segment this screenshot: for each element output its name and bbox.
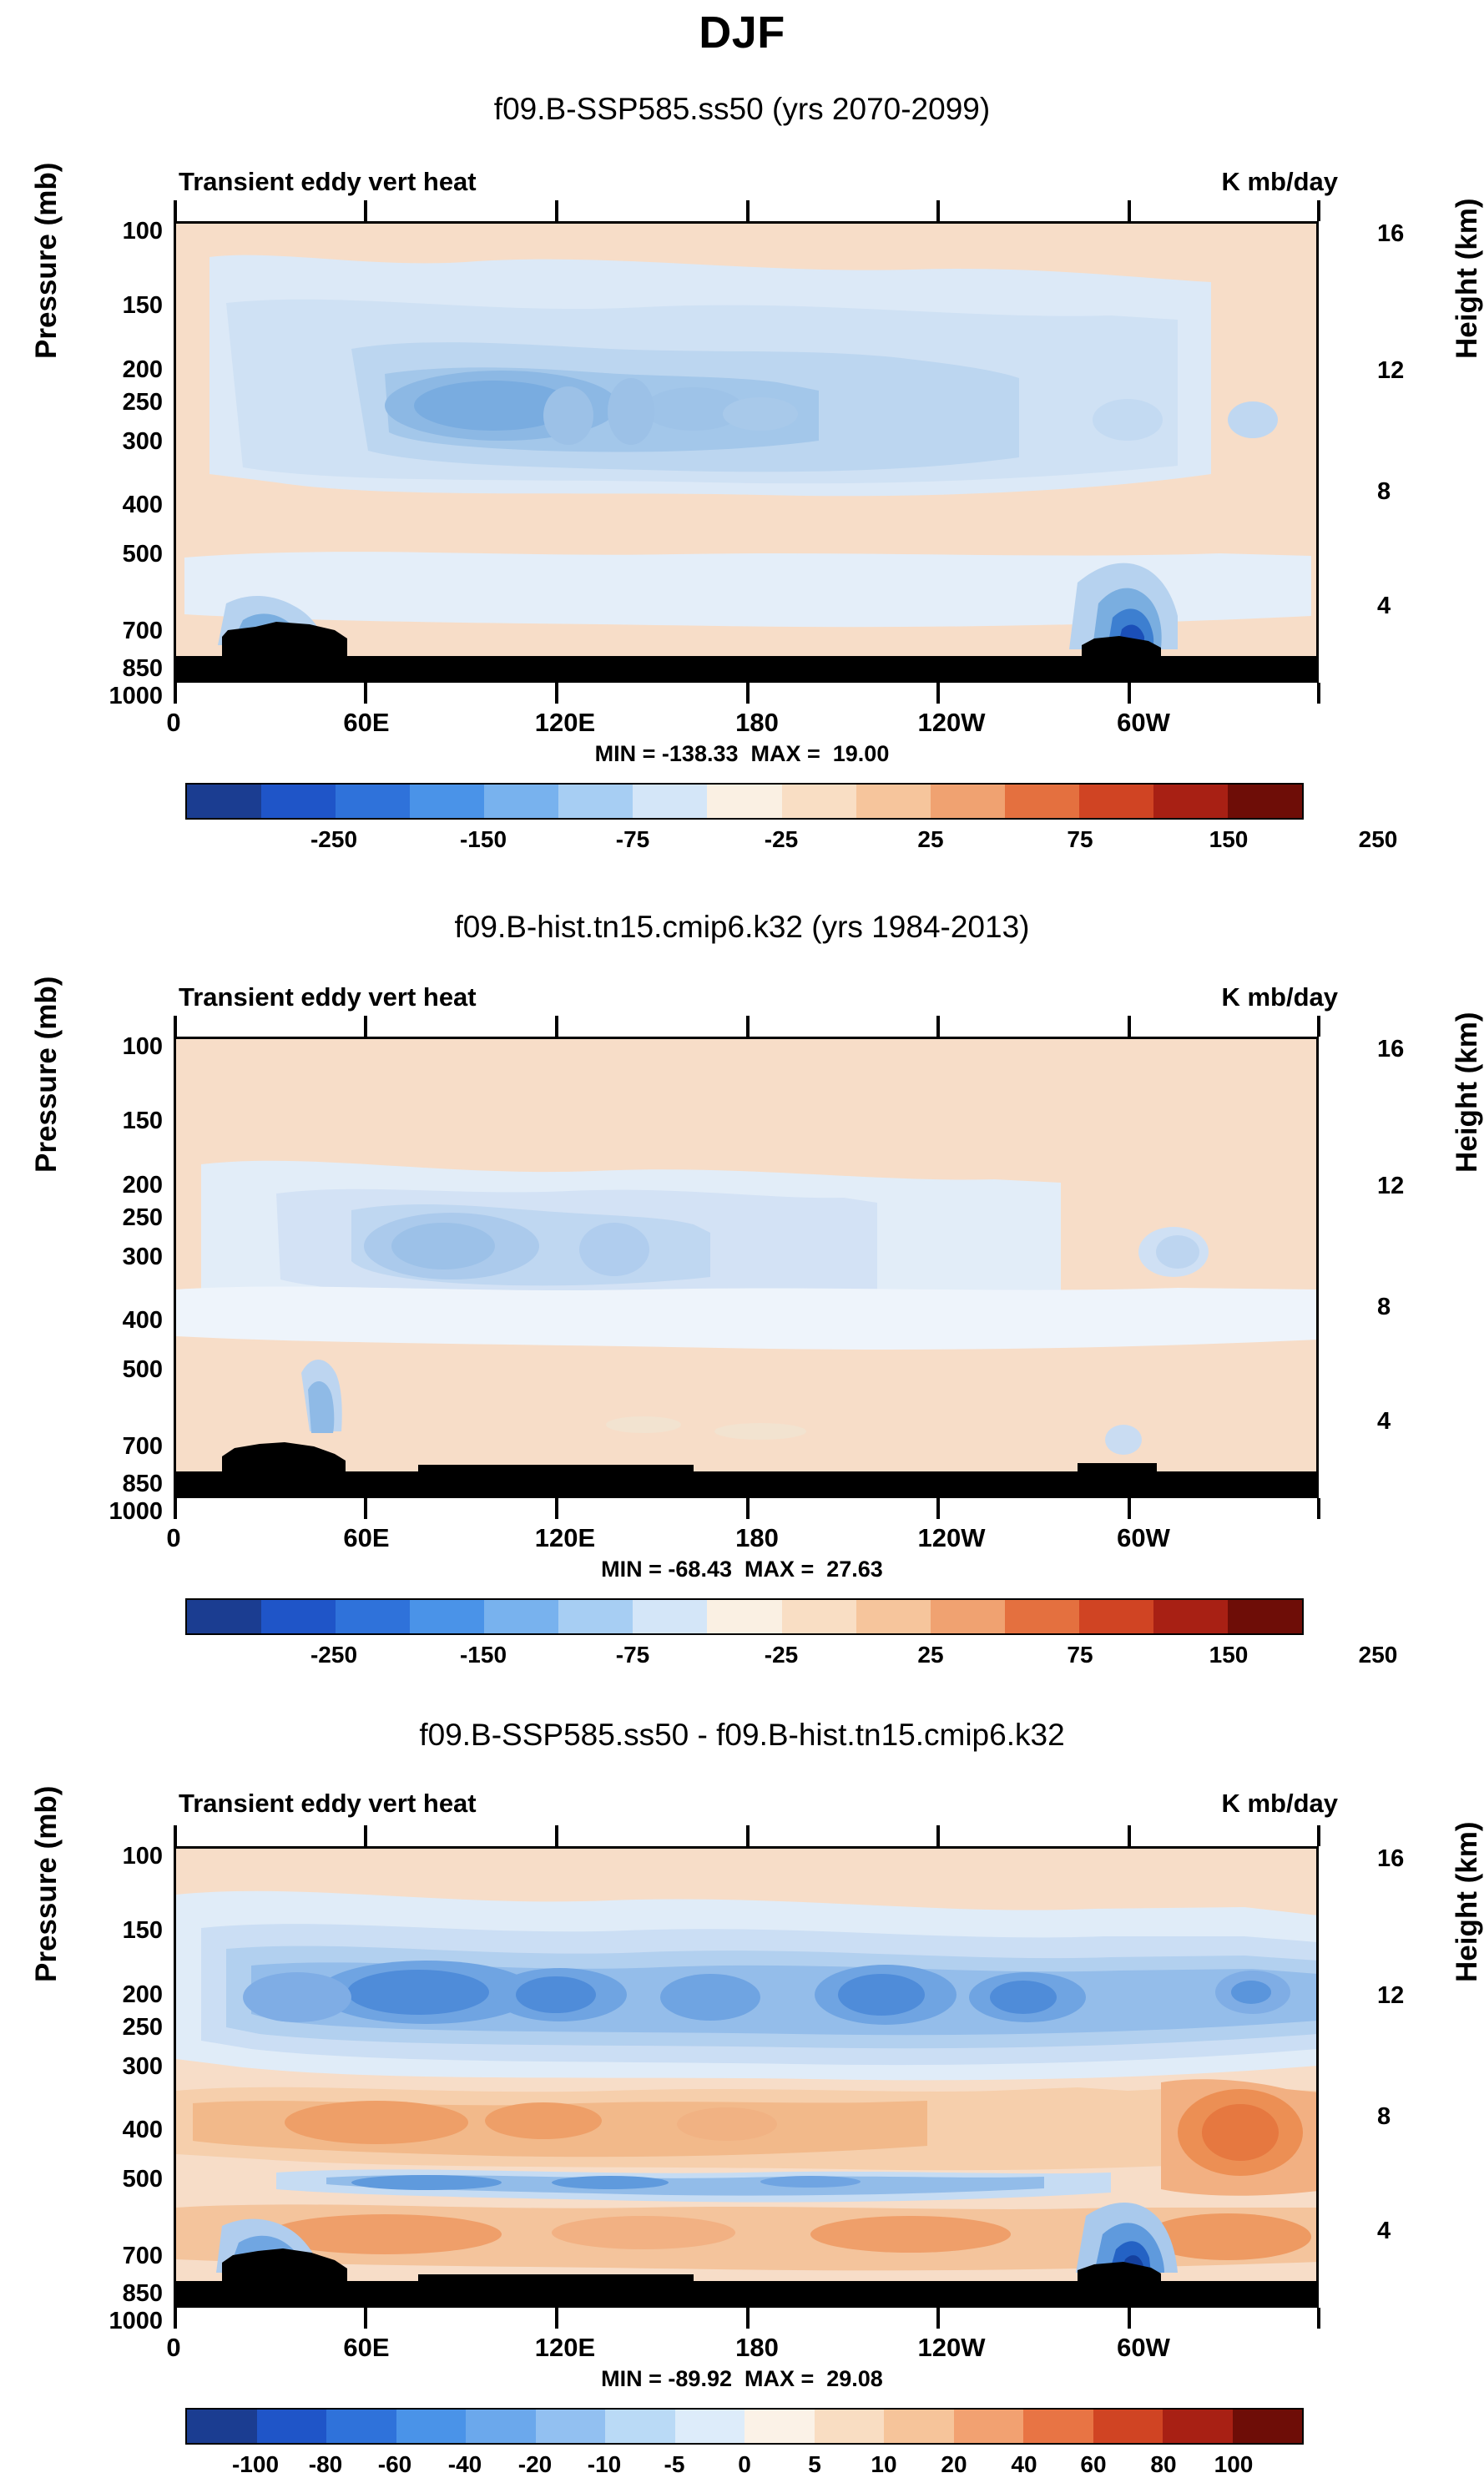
axis-tick bbox=[746, 683, 750, 704]
axis-tick bbox=[746, 200, 750, 221]
axis-tick bbox=[1128, 683, 1131, 704]
panel-2-xtick: 120E bbox=[507, 1523, 623, 1553]
panel-2-ytick: 250 bbox=[50, 1204, 163, 1232]
panel-1-minmax: MIN = -138.33 MAX = 19.00 bbox=[0, 741, 1484, 767]
panel-2-xtick: 0 bbox=[149, 1523, 199, 1553]
panel-1-ytick-right: 12 bbox=[1377, 357, 1404, 385]
axis-tick bbox=[936, 1498, 940, 1519]
panel-1-ytick: 100 bbox=[50, 218, 163, 245]
panel-2-left-label: Transient eddy vert heat bbox=[179, 982, 477, 1012]
panel-2-colorbar bbox=[185, 1598, 1304, 1635]
panel-2-xtick: 60E bbox=[316, 1523, 416, 1553]
panel-2-ytick: 400 bbox=[50, 1307, 163, 1335]
panel-2-field bbox=[176, 1039, 1318, 1497]
axis-tick bbox=[364, 1016, 367, 1037]
axis-tick bbox=[555, 1825, 558, 1846]
panel-3-ytick-right: 4 bbox=[1377, 2218, 1391, 2245]
panel-1-xtick: 120E bbox=[507, 708, 623, 738]
panel-3-ytick: 1000 bbox=[50, 2308, 163, 2335]
cbar-tick: 20 bbox=[941, 2451, 967, 2478]
axis-tick bbox=[174, 683, 177, 704]
panel-2-ytick-right: 8 bbox=[1377, 1294, 1391, 1321]
axis-tick bbox=[1317, 683, 1320, 704]
cbar-tick: 250 bbox=[1359, 1642, 1398, 1668]
panel-1-ytick: 150 bbox=[50, 292, 163, 320]
panel-2-right-label: K mb/day bbox=[1221, 982, 1338, 1012]
cbar-tick: 25 bbox=[917, 1642, 943, 1668]
panel-3-plot bbox=[174, 1846, 1319, 2308]
panel-1-ytick-right: 16 bbox=[1377, 220, 1404, 248]
axis-tick bbox=[746, 1016, 750, 1037]
panel-3-xtick: 120E bbox=[507, 2333, 623, 2363]
panel-3-ytick-right: 8 bbox=[1377, 2103, 1391, 2131]
axis-tick bbox=[174, 2308, 177, 2329]
axis-tick bbox=[1128, 1825, 1131, 1846]
panel-2-minmax: MIN = -68.43 MAX = 27.63 bbox=[0, 1557, 1484, 1582]
axis-tick bbox=[364, 2308, 367, 2329]
cbar-tick: -150 bbox=[460, 1642, 507, 1668]
panel-3-ytick: 300 bbox=[50, 2053, 163, 2081]
panel-2-ylabel-right: Height (km) bbox=[1451, 1012, 1484, 1173]
panel-1-xtick: 0 bbox=[149, 708, 199, 738]
panel-3-ytick: 850 bbox=[50, 2280, 163, 2308]
cbar-tick: 150 bbox=[1209, 1642, 1249, 1668]
cbar-tick: 100 bbox=[1214, 2451, 1254, 2478]
cbar-tick: 10 bbox=[871, 2451, 896, 2478]
panel-3-ytick: 250 bbox=[50, 2014, 163, 2041]
panel-2-ytick: 700 bbox=[50, 1433, 163, 1461]
cbar-tick: 60 bbox=[1080, 2451, 1106, 2478]
axis-tick bbox=[555, 2308, 558, 2329]
cbar-tick: -75 bbox=[616, 1642, 649, 1668]
cbar-tick: 75 bbox=[1067, 1642, 1093, 1668]
panel-2-xtick: 180 bbox=[711, 1523, 803, 1553]
panel-1-ytick-right: 4 bbox=[1377, 593, 1391, 620]
figure-page: DJF f09.B-SSP585.ss50 (yrs 2070-2099) Tr… bbox=[0, 0, 1484, 2483]
panel-3-right-label: K mb/day bbox=[1221, 1789, 1338, 1819]
cbar-tick: 150 bbox=[1209, 826, 1249, 853]
panel-3-xtick: 180 bbox=[711, 2333, 803, 2363]
panel-1-ytick: 500 bbox=[50, 541, 163, 568]
axis-tick bbox=[1128, 200, 1131, 221]
panel-3-ytick: 400 bbox=[50, 2117, 163, 2144]
panel-1-xtick: 120W bbox=[889, 708, 1014, 738]
panel-1-right-label: K mb/day bbox=[1221, 167, 1338, 197]
panel-3-ytick-right: 16 bbox=[1377, 1845, 1404, 1873]
axis-tick bbox=[555, 1498, 558, 1519]
cbar-tick: -40 bbox=[448, 2451, 482, 2478]
panel-2-ytick: 100 bbox=[50, 1033, 163, 1061]
cbar-tick: -25 bbox=[765, 826, 798, 853]
axis-tick bbox=[364, 1498, 367, 1519]
axis-tick bbox=[174, 1825, 177, 1846]
panel-3-ylabel-right: Height (km) bbox=[1451, 1822, 1484, 1983]
panel-3-xtick: 60E bbox=[316, 2333, 416, 2363]
panel-1-ytick-right: 8 bbox=[1377, 478, 1391, 506]
panel-3-xtick: 60W bbox=[1085, 2333, 1202, 2363]
panel-1-ytick: 700 bbox=[50, 618, 163, 645]
cbar-tick: -25 bbox=[765, 1642, 798, 1668]
axis-tick bbox=[936, 683, 940, 704]
cbar-tick: -20 bbox=[518, 2451, 552, 2478]
panel-3-ytick: 100 bbox=[50, 1843, 163, 1870]
panel-2-ytick: 150 bbox=[50, 1108, 163, 1135]
panel-1-ytick: 200 bbox=[50, 356, 163, 384]
panel-2-ytick: 200 bbox=[50, 1172, 163, 1199]
cbar-tick: -100 bbox=[232, 2451, 279, 2478]
cbar-tick: 0 bbox=[738, 2451, 751, 2478]
axis-tick bbox=[1317, 2308, 1320, 2329]
axis-tick bbox=[364, 200, 367, 221]
axis-tick bbox=[746, 1825, 750, 1846]
main-title: DJF bbox=[0, 7, 1484, 58]
panel-3-ytick-right: 12 bbox=[1377, 1982, 1404, 2010]
panel-3-colorbar-labels: -100 -80 -60 -40 -20 -10 -5 0 5 10 20 40… bbox=[185, 2451, 1304, 2480]
panel-2-ytick-right: 16 bbox=[1377, 1036, 1404, 1063]
panel-1-ytick: 300 bbox=[50, 428, 163, 456]
axis-tick bbox=[1128, 1498, 1131, 1519]
cbar-tick: -60 bbox=[378, 2451, 411, 2478]
cbar-tick: 5 bbox=[808, 2451, 821, 2478]
panel-3-ylabel-left: Pressure (mb) bbox=[30, 1786, 63, 1982]
panel-2-ytick: 300 bbox=[50, 1244, 163, 1271]
panel-2-plot bbox=[174, 1037, 1319, 1498]
cbar-tick: 75 bbox=[1067, 826, 1093, 853]
cbar-tick: -5 bbox=[664, 2451, 685, 2478]
panel-2-xtick: 120W bbox=[889, 1523, 1014, 1553]
panel-3-ytick: 700 bbox=[50, 2243, 163, 2270]
panel-2-colorbar-labels: -250 -150 -75 -25 25 75 150 250 bbox=[185, 1642, 1304, 1670]
cbar-tick: -10 bbox=[588, 2451, 621, 2478]
panel-1-title: f09.B-SSP585.ss50 (yrs 2070-2099) bbox=[0, 92, 1484, 127]
cbar-tick: -250 bbox=[310, 826, 357, 853]
panel-3-title: f09.B-SSP585.ss50 - f09.B-hist.tn15.cmip… bbox=[0, 1718, 1484, 1753]
axis-tick bbox=[174, 1498, 177, 1519]
panel-1-xtick: 180 bbox=[711, 708, 803, 738]
panel-1-ytick: 1000 bbox=[50, 683, 163, 710]
axis-tick bbox=[1317, 1498, 1320, 1519]
axis-tick bbox=[936, 1016, 940, 1037]
cbar-tick: 80 bbox=[1150, 2451, 1176, 2478]
panel-2-ytick: 850 bbox=[50, 1471, 163, 1498]
panel-3-colorbar bbox=[185, 2408, 1304, 2445]
panel-1-xtick: 60W bbox=[1085, 708, 1202, 738]
panel-2-ytick-right: 12 bbox=[1377, 1173, 1404, 1200]
panel-1-ylabel-right: Height (km) bbox=[1451, 199, 1484, 360]
panel-2-xtick: 60W bbox=[1085, 1523, 1202, 1553]
axis-tick bbox=[936, 2308, 940, 2329]
axis-tick bbox=[174, 1016, 177, 1037]
cbar-tick: 25 bbox=[917, 826, 943, 853]
panel-3-ytick: 150 bbox=[50, 1917, 163, 1945]
panel-3-xtick: 0 bbox=[149, 2333, 199, 2363]
panel-1-ytick: 400 bbox=[50, 492, 163, 519]
axis-tick bbox=[1128, 2308, 1131, 2329]
axis-tick bbox=[555, 200, 558, 221]
axis-tick bbox=[555, 1016, 558, 1037]
panel-2-ylabel-left: Pressure (mb) bbox=[30, 977, 63, 1173]
panel-2-title: f09.B-hist.tn15.cmip6.k32 (yrs 1984-2013… bbox=[0, 910, 1484, 945]
axis-tick bbox=[1317, 1016, 1320, 1037]
axis-tick bbox=[1128, 1016, 1131, 1037]
cbar-tick: 40 bbox=[1011, 2451, 1037, 2478]
panel-1-colorbar bbox=[185, 783, 1304, 820]
panel-1-colorbar-labels: -250 -150 -75 -25 25 75 150 250 bbox=[185, 826, 1304, 855]
panel-1-ytick: 250 bbox=[50, 389, 163, 416]
cbar-tick: -75 bbox=[616, 826, 649, 853]
panel-2-ytick: 1000 bbox=[50, 1498, 163, 1526]
axis-tick bbox=[936, 1825, 940, 1846]
panel-2-ytick-right: 4 bbox=[1377, 1408, 1391, 1436]
panel-3-xtick: 120W bbox=[889, 2333, 1014, 2363]
panel-3-minmax: MIN = -89.92 MAX = 29.08 bbox=[0, 2366, 1484, 2392]
panel-3-ytick: 200 bbox=[50, 1981, 163, 2009]
panel-1-ytick: 850 bbox=[50, 655, 163, 683]
axis-tick bbox=[555, 683, 558, 704]
panel-1-field bbox=[176, 224, 1318, 682]
axis-tick bbox=[746, 1498, 750, 1519]
axis-tick bbox=[364, 683, 367, 704]
cbar-tick: -150 bbox=[460, 826, 507, 853]
axis-tick bbox=[936, 200, 940, 221]
panel-1-ylabel-left: Pressure (mb) bbox=[30, 163, 63, 359]
panel-1-left-label: Transient eddy vert heat bbox=[179, 167, 477, 197]
panel-3-field bbox=[176, 1849, 1318, 2307]
panel-1-xtick: 60E bbox=[316, 708, 416, 738]
axis-tick bbox=[746, 2308, 750, 2329]
panel-3-left-label: Transient eddy vert heat bbox=[179, 1789, 477, 1819]
axis-tick bbox=[1317, 200, 1320, 221]
panel-2-ytick: 500 bbox=[50, 1356, 163, 1384]
axis-tick bbox=[174, 200, 177, 221]
cbar-tick: -80 bbox=[309, 2451, 342, 2478]
panel-1-plot bbox=[174, 221, 1319, 683]
panel-3-ytick: 500 bbox=[50, 2166, 163, 2193]
cbar-tick: 250 bbox=[1359, 826, 1398, 853]
cbar-tick: -250 bbox=[310, 1642, 357, 1668]
axis-tick bbox=[1317, 1825, 1320, 1846]
axis-tick bbox=[364, 1825, 367, 1846]
